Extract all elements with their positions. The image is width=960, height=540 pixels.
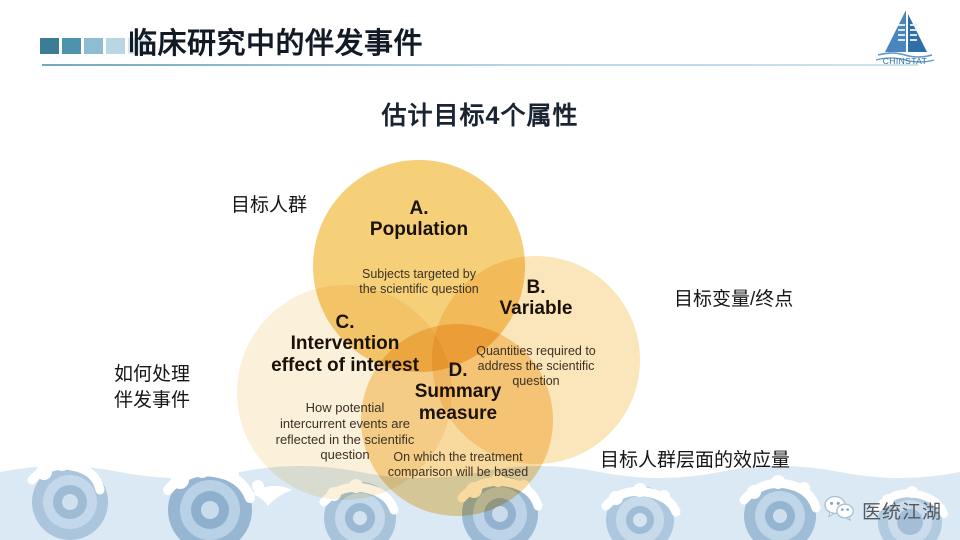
- header-square-1: [40, 38, 59, 54]
- venn-circle-summary-measure: [361, 324, 553, 516]
- header-divider: [42, 64, 918, 66]
- page-title: 临床研究中的伴发事件: [128, 20, 423, 62]
- watermark-text: 医统江湖: [862, 497, 942, 524]
- annotation-effect-size: 目标人群层面的效应量: [600, 448, 790, 474]
- svg-text:CHINSTAT: CHINSTAT: [883, 56, 927, 66]
- header-square-3: [84, 38, 103, 54]
- slide-header: 临床研究中的伴发事件: [0, 0, 960, 72]
- annotation-target-population: 目标人群: [231, 193, 307, 219]
- annotation-target-variable: 目标变量/终点: [674, 287, 793, 313]
- header-square-2: [62, 38, 81, 54]
- wechat-icon: [824, 495, 854, 526]
- chinstat-sailboat-logo: CHINSTAT: [872, 8, 938, 66]
- annotation-intercurrent-events: 如何处理 伴发事件: [114, 362, 190, 413]
- slide-canvas: 临床研究中的伴发事件: [0, 0, 960, 540]
- header-square-4: [106, 38, 125, 54]
- watermark: 医统江湖: [824, 495, 942, 526]
- section-heading: 估计目标4个属性: [0, 96, 960, 132]
